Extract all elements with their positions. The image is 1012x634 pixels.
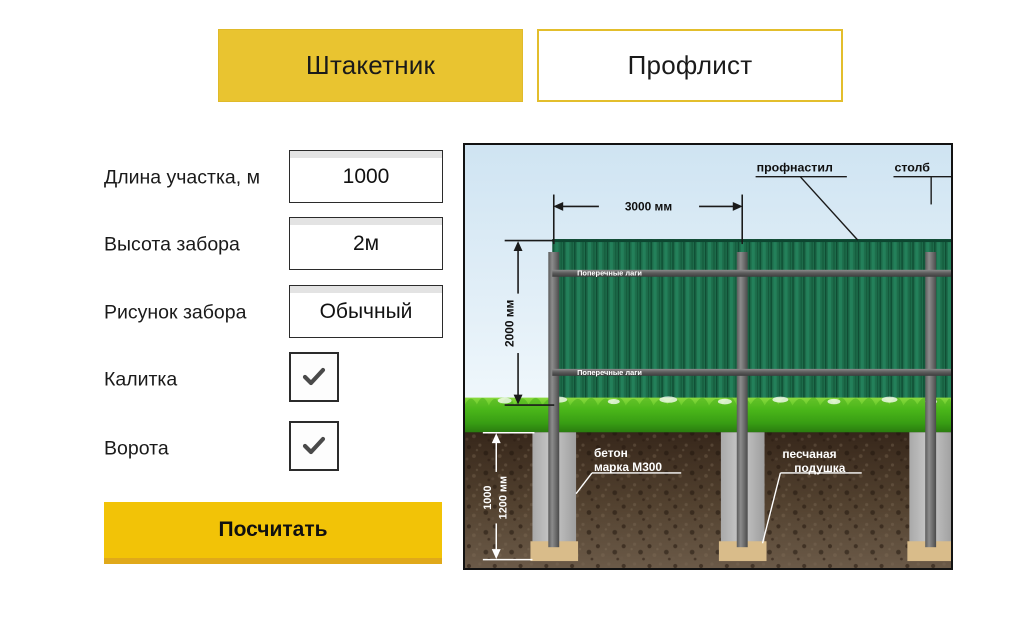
rail-label-top: Поперечные лаги (577, 269, 642, 278)
input-length[interactable]: 1000 (289, 150, 443, 203)
callout-stolb: столб (894, 161, 930, 175)
check-icon (299, 362, 329, 392)
form-row-pattern: Рисунок забора Обычный (0, 285, 470, 341)
form-row-gates: Ворота (0, 421, 470, 477)
callout-sand-line1: песчаная (782, 447, 836, 461)
rail-label-bottom: Поперечные лаги (577, 368, 642, 377)
callout-sand-line2: подушка (794, 461, 845, 475)
calculate-button[interactable]: Посчитать (104, 502, 442, 564)
dim-width-label: 3000 мм (625, 199, 672, 213)
tab-proflist[interactable]: Профлист (537, 29, 843, 102)
callout-concrete-line2: марка М300 (594, 460, 662, 474)
input-length-value: 1000 (343, 165, 390, 189)
dim-depth-inner-label: 1200 мм (498, 476, 510, 519)
select-pattern[interactable]: Обычный (289, 285, 443, 338)
check-icon (299, 431, 329, 461)
tab-proflist-label: Профлист (628, 50, 753, 81)
label-pattern: Рисунок забора (104, 302, 246, 325)
form-row-wicket: Калитка (0, 352, 470, 408)
callout-profnastil: профнастил (757, 161, 833, 175)
form-row-length: Длина участка, м 1000 (0, 150, 470, 206)
form-row-height: Высота забора 2м (0, 217, 470, 273)
fence-diagram: Поперечные лаги Поперечные лаги 3000 мм (463, 143, 953, 570)
checkbox-wicket[interactable] (289, 352, 339, 402)
calculator-form: Длина участка, м 1000 Высота забора 2м Р… (0, 0, 470, 634)
dim-height-label: 2000 мм (503, 300, 517, 347)
select-height-value: 2м (353, 232, 379, 256)
callout-concrete-line1: бетон (594, 446, 628, 460)
select-pattern-value: Обычный (320, 300, 413, 324)
select-height[interactable]: 2м (289, 217, 443, 270)
checkbox-gates[interactable] (289, 421, 339, 471)
label-length: Длина участка, м (104, 167, 260, 190)
label-wicket: Калитка (104, 369, 177, 392)
dim-depth-outer-label: 1000 (482, 486, 494, 510)
label-gates: Ворота (104, 438, 169, 461)
label-height: Высота забора (104, 234, 240, 257)
fence-diagram-svg: Поперечные лаги Поперечные лаги 3000 мм (465, 145, 951, 568)
